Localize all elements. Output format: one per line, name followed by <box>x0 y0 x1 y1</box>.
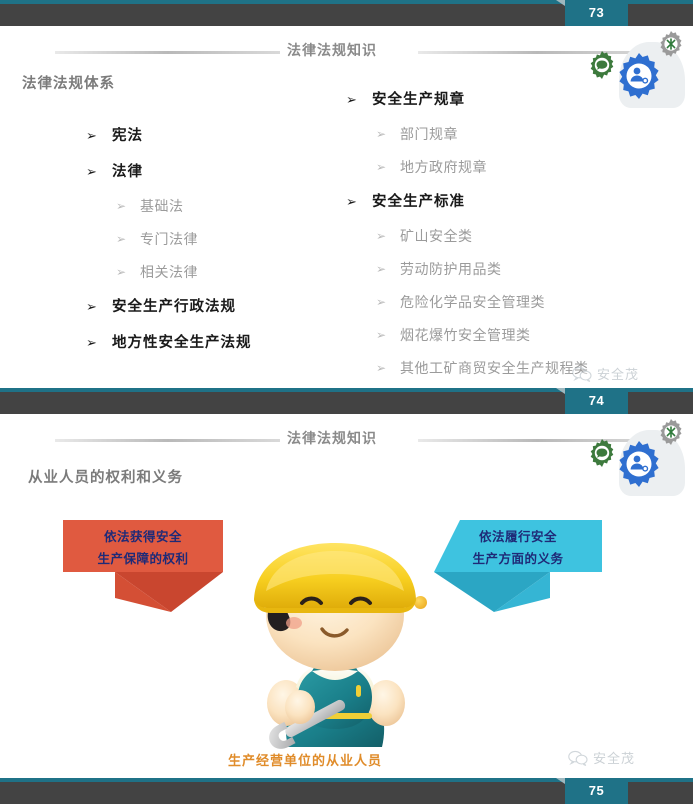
list-item: ➢宪法 <box>70 118 252 154</box>
wechat-logo-icon <box>568 750 588 766</box>
arrow-bullet-icon: ➢ <box>346 184 358 220</box>
section-title: 法律法规体系 <box>22 72 115 93</box>
list-item-label: 安全生产规章 <box>372 92 465 108</box>
deck-title: 法律法规知识 <box>287 40 377 60</box>
list-item: ➢法律 <box>70 154 252 190</box>
list-item-label: 专门法律 <box>140 231 198 247</box>
arrow-bullet-icon: ➢ <box>376 151 387 184</box>
worker-mascot-svg <box>236 537 434 749</box>
list-item: ➢地方政府规章 <box>330 151 589 184</box>
list-item: ➢部门规章 <box>330 118 589 151</box>
slide-law-system: 法律法规知识 <box>0 26 693 388</box>
page-bar-notch <box>556 778 565 784</box>
arrow-bullet-icon: ➢ <box>116 190 127 223</box>
callout-duties-line2: 生产方面的义务 <box>434 548 602 570</box>
list-item-label: 烟花爆竹安全管理类 <box>400 327 531 343</box>
page-number-badge: 75 <box>565 778 628 804</box>
gear-head-decoration <box>583 416 693 496</box>
callout-duties: 依法履行安全 生产方面的义务 <box>434 520 602 620</box>
section-title: 从业人员的权利和义务 <box>28 466 183 487</box>
watermark-text: 安全茂 <box>597 364 639 383</box>
callout-duties-text: 依法履行安全 生产方面的义务 <box>434 526 602 570</box>
list-item-label: 其他工矿商贸安全生产规程类 <box>400 360 589 376</box>
list-item: ➢相关法律 <box>70 256 252 289</box>
list-item: ➢安全生产标准 <box>330 184 589 220</box>
title-rule-left <box>55 439 280 442</box>
arrow-bullet-icon: ➢ <box>116 256 127 289</box>
arrow-bullet-icon: ➢ <box>86 289 98 325</box>
list-item-label: 安全生产标准 <box>372 194 465 210</box>
list-item: ➢基础法 <box>70 190 252 223</box>
list-item-label: 地方政府规章 <box>400 159 487 175</box>
arrow-bullet-icon: ➢ <box>116 223 127 256</box>
list-item-label: 部门规章 <box>400 126 458 142</box>
list-item-label: 相关法律 <box>140 264 198 280</box>
slide-worker-rights: 法律法规知识 <box>0 414 693 778</box>
page-bar-74: 74 <box>0 388 693 414</box>
list-item: ➢烟花爆竹安全管理类 <box>330 319 589 352</box>
arrow-bullet-icon: ➢ <box>376 286 387 319</box>
list-item-label: 矿山安全类 <box>400 228 473 244</box>
list-item: ➢劳动防护用品类 <box>330 253 589 286</box>
arrow-bullet-icon: ➢ <box>376 352 387 385</box>
tools-gear-icon <box>657 30 685 58</box>
list-item-label: 安全生产行政法规 <box>112 299 236 315</box>
page-bar-73: 73 <box>0 0 693 26</box>
worker-mascot-illustration <box>236 537 434 749</box>
arrow-bullet-icon: ➢ <box>376 118 387 151</box>
list-item: ➢矿山安全类 <box>330 220 589 253</box>
page-bar-notch <box>556 0 565 6</box>
list-item-label: 宪法 <box>112 128 143 144</box>
list-item-label: 危险化学品安全管理类 <box>400 294 545 310</box>
arrow-bullet-icon: ➢ <box>376 319 387 352</box>
callout-rights: 依法获得安全 生产保障的权利 <box>63 520 223 612</box>
callout-rights-line2: 生产保障的权利 <box>63 548 223 570</box>
watermark-top: 安全茂 <box>572 364 639 383</box>
arrow-bullet-icon: ➢ <box>376 220 387 253</box>
chat-gear-icon <box>587 438 617 468</box>
list-item: ➢其他工矿商贸安全生产规程类 <box>330 352 589 385</box>
gear-head-decoration <box>583 28 693 108</box>
title-rule-left <box>55 51 280 54</box>
list-item-label: 法律 <box>112 164 143 180</box>
arrow-bullet-icon: ➢ <box>376 253 387 286</box>
bullet-list-left: ➢宪法➢法律➢基础法➢专门法律➢相关法律➢安全生产行政法规➢地方性安全生产法规 <box>70 118 252 361</box>
arrow-bullet-icon: ➢ <box>86 118 98 154</box>
page-bar-notch <box>556 388 565 394</box>
chat-gear-icon <box>587 50 617 80</box>
page-number-badge: 74 <box>565 388 628 414</box>
list-item: ➢安全生产规章 <box>330 82 589 118</box>
page-number-badge: 73 <box>565 0 628 26</box>
arrow-bullet-icon: ➢ <box>86 325 98 361</box>
callout-rights-line1: 依法获得安全 <box>63 526 223 548</box>
list-item: ➢专门法律 <box>70 223 252 256</box>
list-item: ➢安全生产行政法规 <box>70 289 252 325</box>
list-item: ➢地方性安全生产法规 <box>70 325 252 361</box>
list-item-label: 劳动防护用品类 <box>400 261 502 277</box>
list-item-label: 地方性安全生产法规 <box>112 335 252 351</box>
page-bar-75: 75 <box>0 778 693 804</box>
wechat-logo-icon <box>572 366 592 382</box>
callout-rights-text: 依法获得安全 生产保障的权利 <box>63 526 223 570</box>
list-item: ➢危险化学品安全管理类 <box>330 286 589 319</box>
list-item-label: 基础法 <box>140 198 184 214</box>
arrow-bullet-icon: ➢ <box>346 82 358 118</box>
bullet-list-right: ➢安全生产规章➢部门规章➢地方政府规章➢安全生产标准➢矿山安全类➢劳动防护用品类… <box>330 82 589 385</box>
callout-duties-line1: 依法履行安全 <box>434 526 602 548</box>
mascot-caption: 生产经营单位的从业人员 <box>228 750 382 769</box>
watermark-bottom: 安全茂 <box>568 748 635 767</box>
watermark-text: 安全茂 <box>593 748 635 767</box>
tools-gear-icon <box>657 418 685 446</box>
arrow-bullet-icon: ➢ <box>86 154 98 190</box>
deck-title: 法律法规知识 <box>287 428 377 448</box>
